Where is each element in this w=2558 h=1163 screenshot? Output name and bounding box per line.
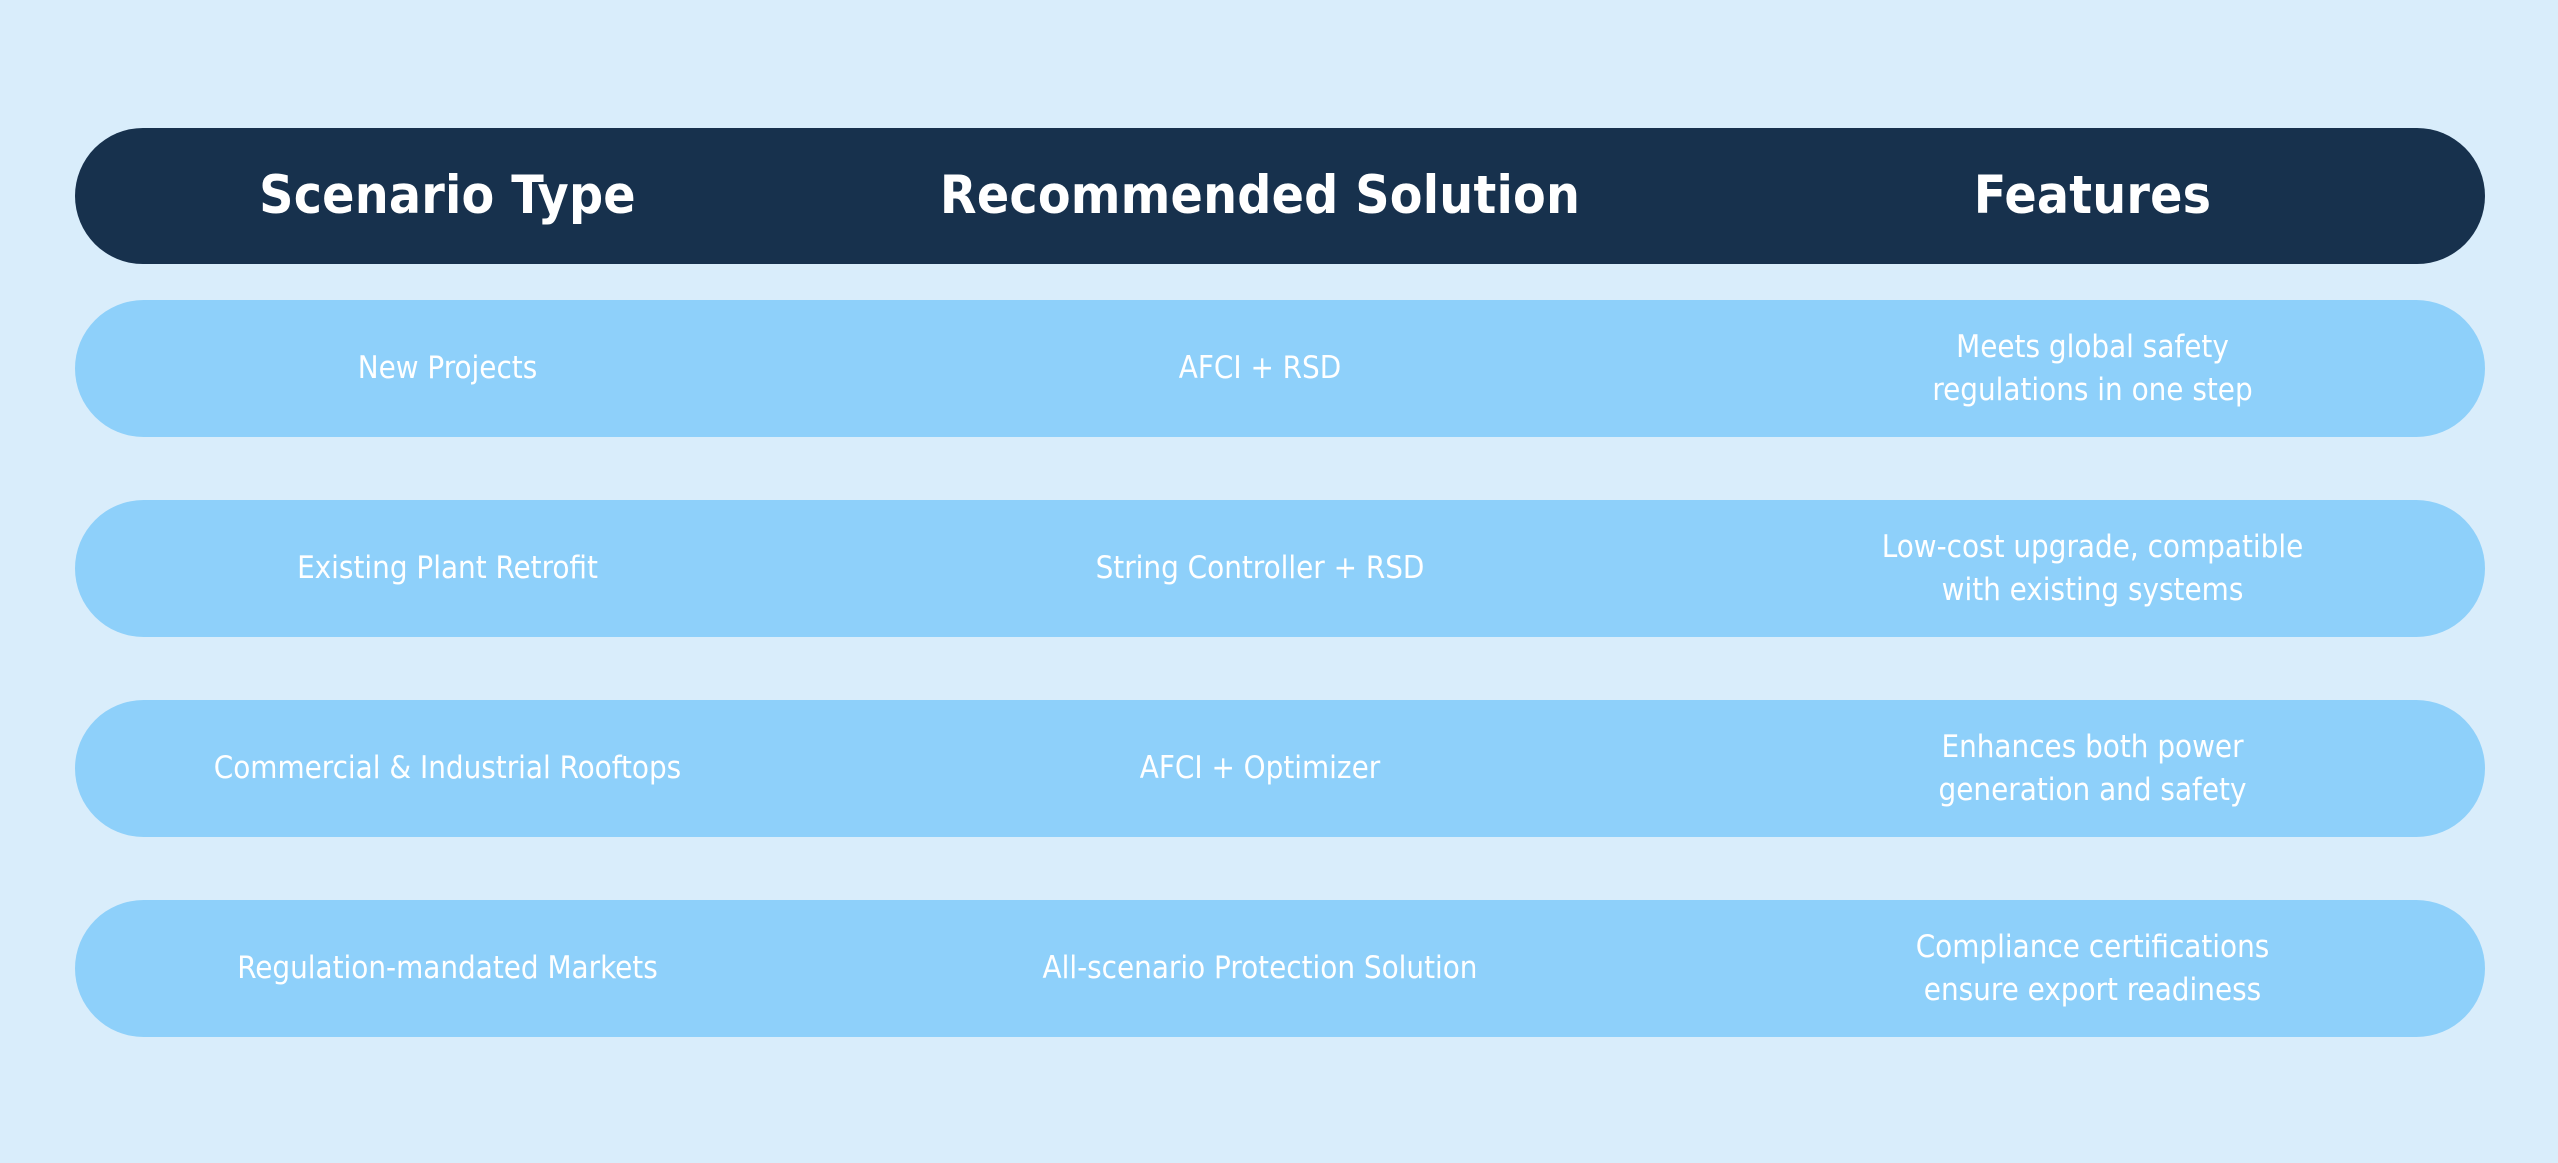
cell-scenario-type: Regulation-mandated Markets bbox=[75, 900, 820, 1037]
cell-scenario-type: Commercial & Industrial Rooftops bbox=[75, 700, 820, 837]
cell-recommended-solution: AFCI + Optimizer bbox=[820, 700, 1700, 837]
column-header-recommended-solution: Recommended Solution bbox=[820, 128, 1700, 264]
cell-recommended-solution: AFCI + RSD bbox=[820, 300, 1700, 437]
cell-features: Enhances both power generation and safet… bbox=[1700, 700, 2485, 837]
cell-recommended-solution: All-scenario Protection Solution bbox=[820, 900, 1700, 1037]
table-row: Commercial & Industrial Rooftops AFCI + … bbox=[75, 700, 2485, 837]
column-header-scenario-type: Scenario Type bbox=[75, 128, 820, 264]
column-header-features: Features bbox=[1700, 128, 2485, 264]
cell-scenario-type: Existing Plant Retrofit bbox=[75, 500, 820, 637]
cell-features: Low-cost upgrade, compatible with existi… bbox=[1700, 500, 2485, 637]
cell-features: Meets global safety regulations in one s… bbox=[1700, 300, 2485, 437]
cell-scenario-type: New Projects bbox=[75, 300, 820, 437]
comparison-table: Scenario Type Recommended Solution Featu… bbox=[75, 0, 2485, 1163]
cell-recommended-solution: String Controller + RSD bbox=[820, 500, 1700, 637]
table-row: Regulation-mandated Markets All-scenario… bbox=[75, 900, 2485, 1037]
table-row: New Projects AFCI + RSD Meets global saf… bbox=[75, 300, 2485, 437]
table-row: Existing Plant Retrofit String Controlle… bbox=[75, 500, 2485, 637]
table-header-row: Scenario Type Recommended Solution Featu… bbox=[75, 128, 2485, 264]
cell-features: Compliance certifications ensure export … bbox=[1700, 900, 2485, 1037]
